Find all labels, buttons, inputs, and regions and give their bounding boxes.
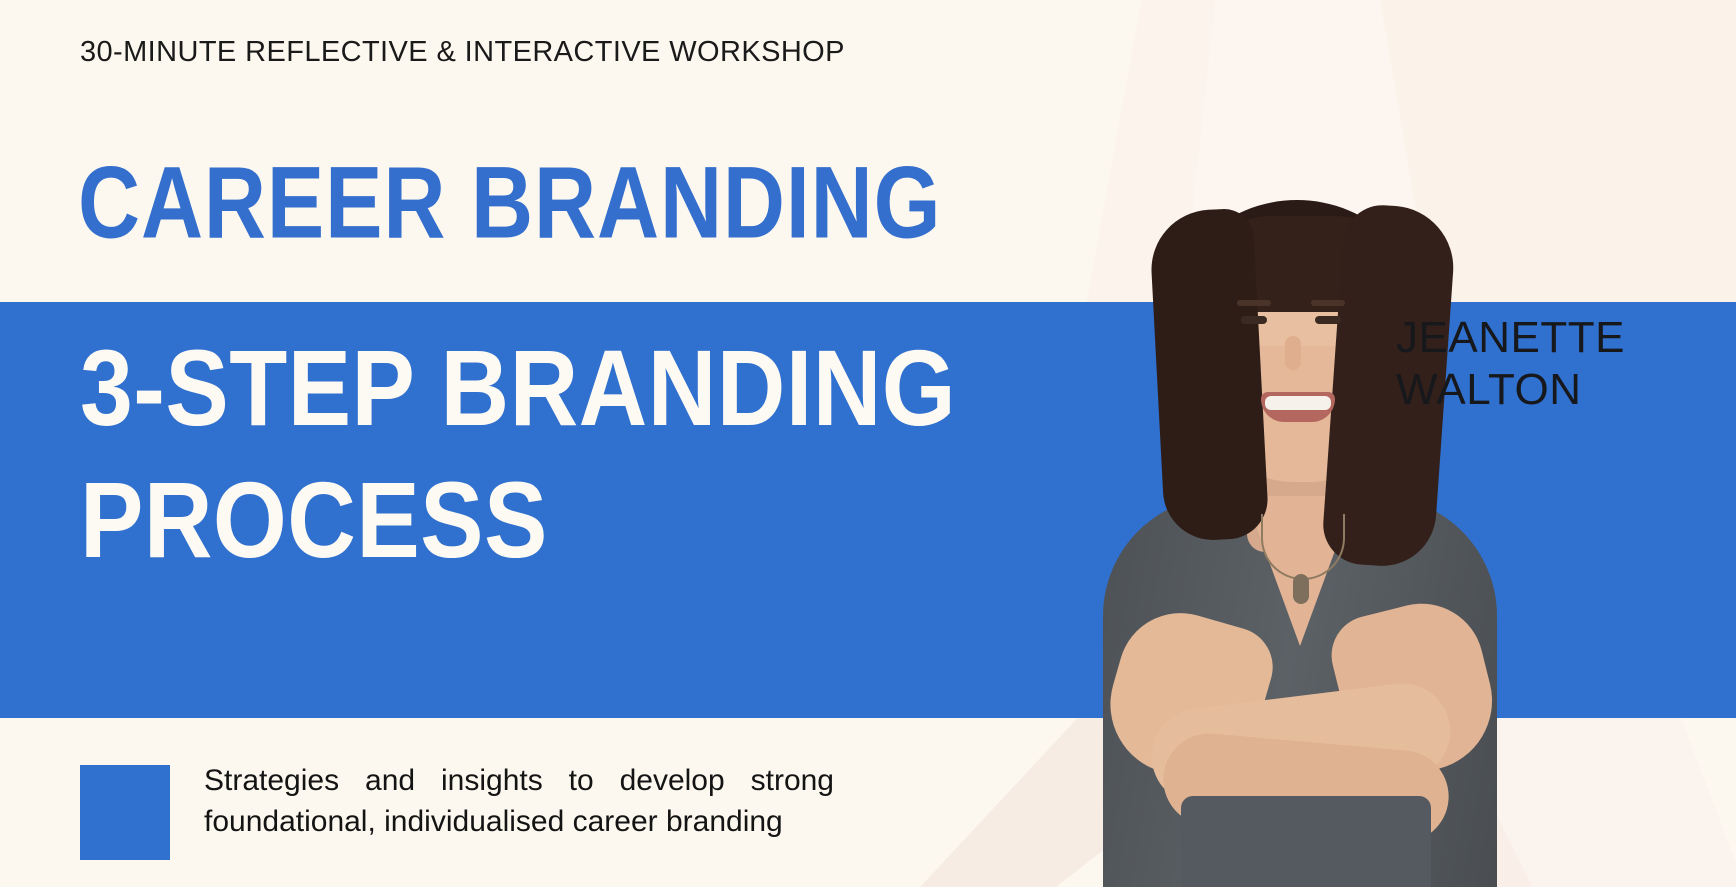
mouth-shape	[1261, 392, 1335, 422]
presenter-last-name: WALTON	[1396, 364, 1736, 416]
workshop-promo-poster: 30-MINUTE REFLECTIVE & INTERACTIVE WORKS…	[0, 0, 1736, 887]
eye-left-shape	[1241, 316, 1267, 324]
presenter-first-name: JEANETTE	[1396, 312, 1736, 364]
eyebrow-left-shape	[1237, 300, 1271, 306]
presenter-photo	[1085, 196, 1515, 887]
band-title-line-1: 3-STEP BRANDING	[80, 322, 1048, 454]
footer-blurb-block: Strategies and insights to develop stron…	[80, 760, 840, 860]
page-title: CAREER BRANDING	[78, 152, 941, 254]
eyebrow-right-shape	[1311, 300, 1345, 306]
presenter-name: JEANETTE WALTON	[1396, 312, 1736, 416]
teeth-shape	[1265, 396, 1331, 410]
blue-square-bullet	[80, 765, 170, 860]
hair-left-strand	[1148, 208, 1269, 543]
necklace-pendant	[1293, 574, 1309, 604]
blurb-text: Strategies and insights to develop stron…	[204, 760, 834, 842]
eyebrow-text: 30-MINUTE REFLECTIVE & INTERACTIVE WORKS…	[80, 36, 845, 69]
blurb-line-1: Strategies and insights to develop stron…	[204, 760, 834, 801]
band-title: 3-STEP BRANDING PROCESS	[80, 322, 1048, 586]
nose-shape	[1285, 336, 1301, 370]
band-title-line-2: PROCESS	[80, 454, 1048, 586]
lower-garment-shape	[1181, 796, 1431, 887]
eye-right-shape	[1315, 316, 1341, 324]
blurb-line-2: foundational, individualised career bran…	[204, 801, 834, 842]
